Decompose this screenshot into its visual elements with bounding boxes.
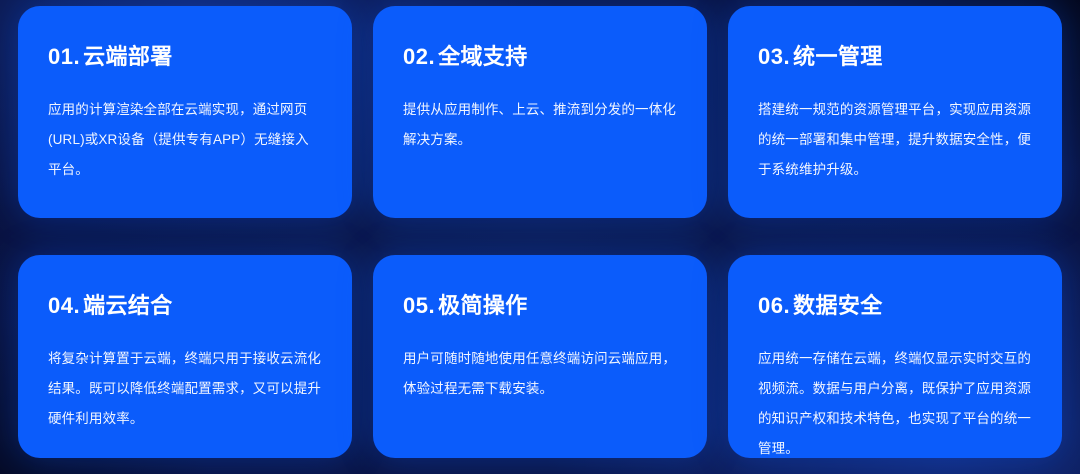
feature-card-body: 搭建统一规范的资源管理平台，实现应用资源的统一部署和集中管理，提升数据安全性，便… — [758, 95, 1032, 185]
feature-card-04[interactable]: 04.端云结合 将复杂计算置于云端，终端只用于接收云流化结果。既可以降低终端配置… — [18, 255, 352, 458]
feature-card-body: 将复杂计算置于云端，终端只用于接收云流化结果。既可以降低终端配置需求，又可以提升… — [48, 344, 322, 434]
feature-card-body: 提供从应用制作、上云、推流到分发的一体化解决方案。 — [403, 95, 677, 155]
feature-card-01[interactable]: 01.云端部署 应用的计算渲染全部在云端实现，通过网页(URL)或XR设备（提供… — [18, 6, 352, 218]
feature-card-number: 03. — [758, 44, 790, 69]
feature-card-name: 数据安全 — [793, 293, 883, 318]
feature-card-body: 用户可随时随地使用任意终端访问云端应用，体验过程无需下载安装。 — [403, 344, 677, 404]
feature-card-title: 06.数据安全 — [758, 293, 1032, 318]
feature-card-05[interactable]: 05.极简操作 用户可随时随地使用任意终端访问云端应用，体验过程无需下载安装。 — [373, 255, 707, 458]
feature-card-title: 05.极简操作 — [403, 293, 677, 318]
feature-card-number: 06. — [758, 293, 790, 318]
feature-card-number: 05. — [403, 293, 435, 318]
feature-card-name: 云端部署 — [83, 44, 173, 69]
feature-card-03[interactable]: 03.统一管理 搭建统一规范的资源管理平台，实现应用资源的统一部署和集中管理，提… — [728, 6, 1062, 218]
feature-card-grid: 01.云端部署 应用的计算渲染全部在云端实现，通过网页(URL)或XR设备（提供… — [18, 6, 1062, 458]
feature-card-number: 04. — [48, 293, 80, 318]
feature-card-name: 统一管理 — [793, 44, 883, 69]
feature-card-name: 极简操作 — [438, 293, 528, 318]
feature-card-number: 02. — [403, 44, 435, 69]
feature-card-title: 01.云端部署 — [48, 44, 322, 69]
feature-card-06[interactable]: 06.数据安全 应用统一存储在云端，终端仅显示实时交互的视频流。数据与用户分离，… — [728, 255, 1062, 458]
feature-card-body: 应用的计算渲染全部在云端实现，通过网页(URL)或XR设备（提供专有APP）无缝… — [48, 95, 322, 185]
feature-card-name: 端云结合 — [83, 293, 173, 318]
feature-card-title: 02.全域支持 — [403, 44, 677, 69]
feature-cards-panel: 01.云端部署 应用的计算渲染全部在云端实现，通过网页(URL)或XR设备（提供… — [0, 0, 1080, 474]
feature-card-name: 全域支持 — [438, 44, 528, 69]
feature-card-title: 04.端云结合 — [48, 293, 322, 318]
feature-card-number: 01. — [48, 44, 80, 69]
feature-card-body: 应用统一存储在云端，终端仅显示实时交互的视频流。数据与用户分离，既保护了应用资源… — [758, 344, 1032, 458]
feature-card-02[interactable]: 02.全域支持 提供从应用制作、上云、推流到分发的一体化解决方案。 — [373, 6, 707, 218]
feature-card-title: 03.统一管理 — [758, 44, 1032, 69]
